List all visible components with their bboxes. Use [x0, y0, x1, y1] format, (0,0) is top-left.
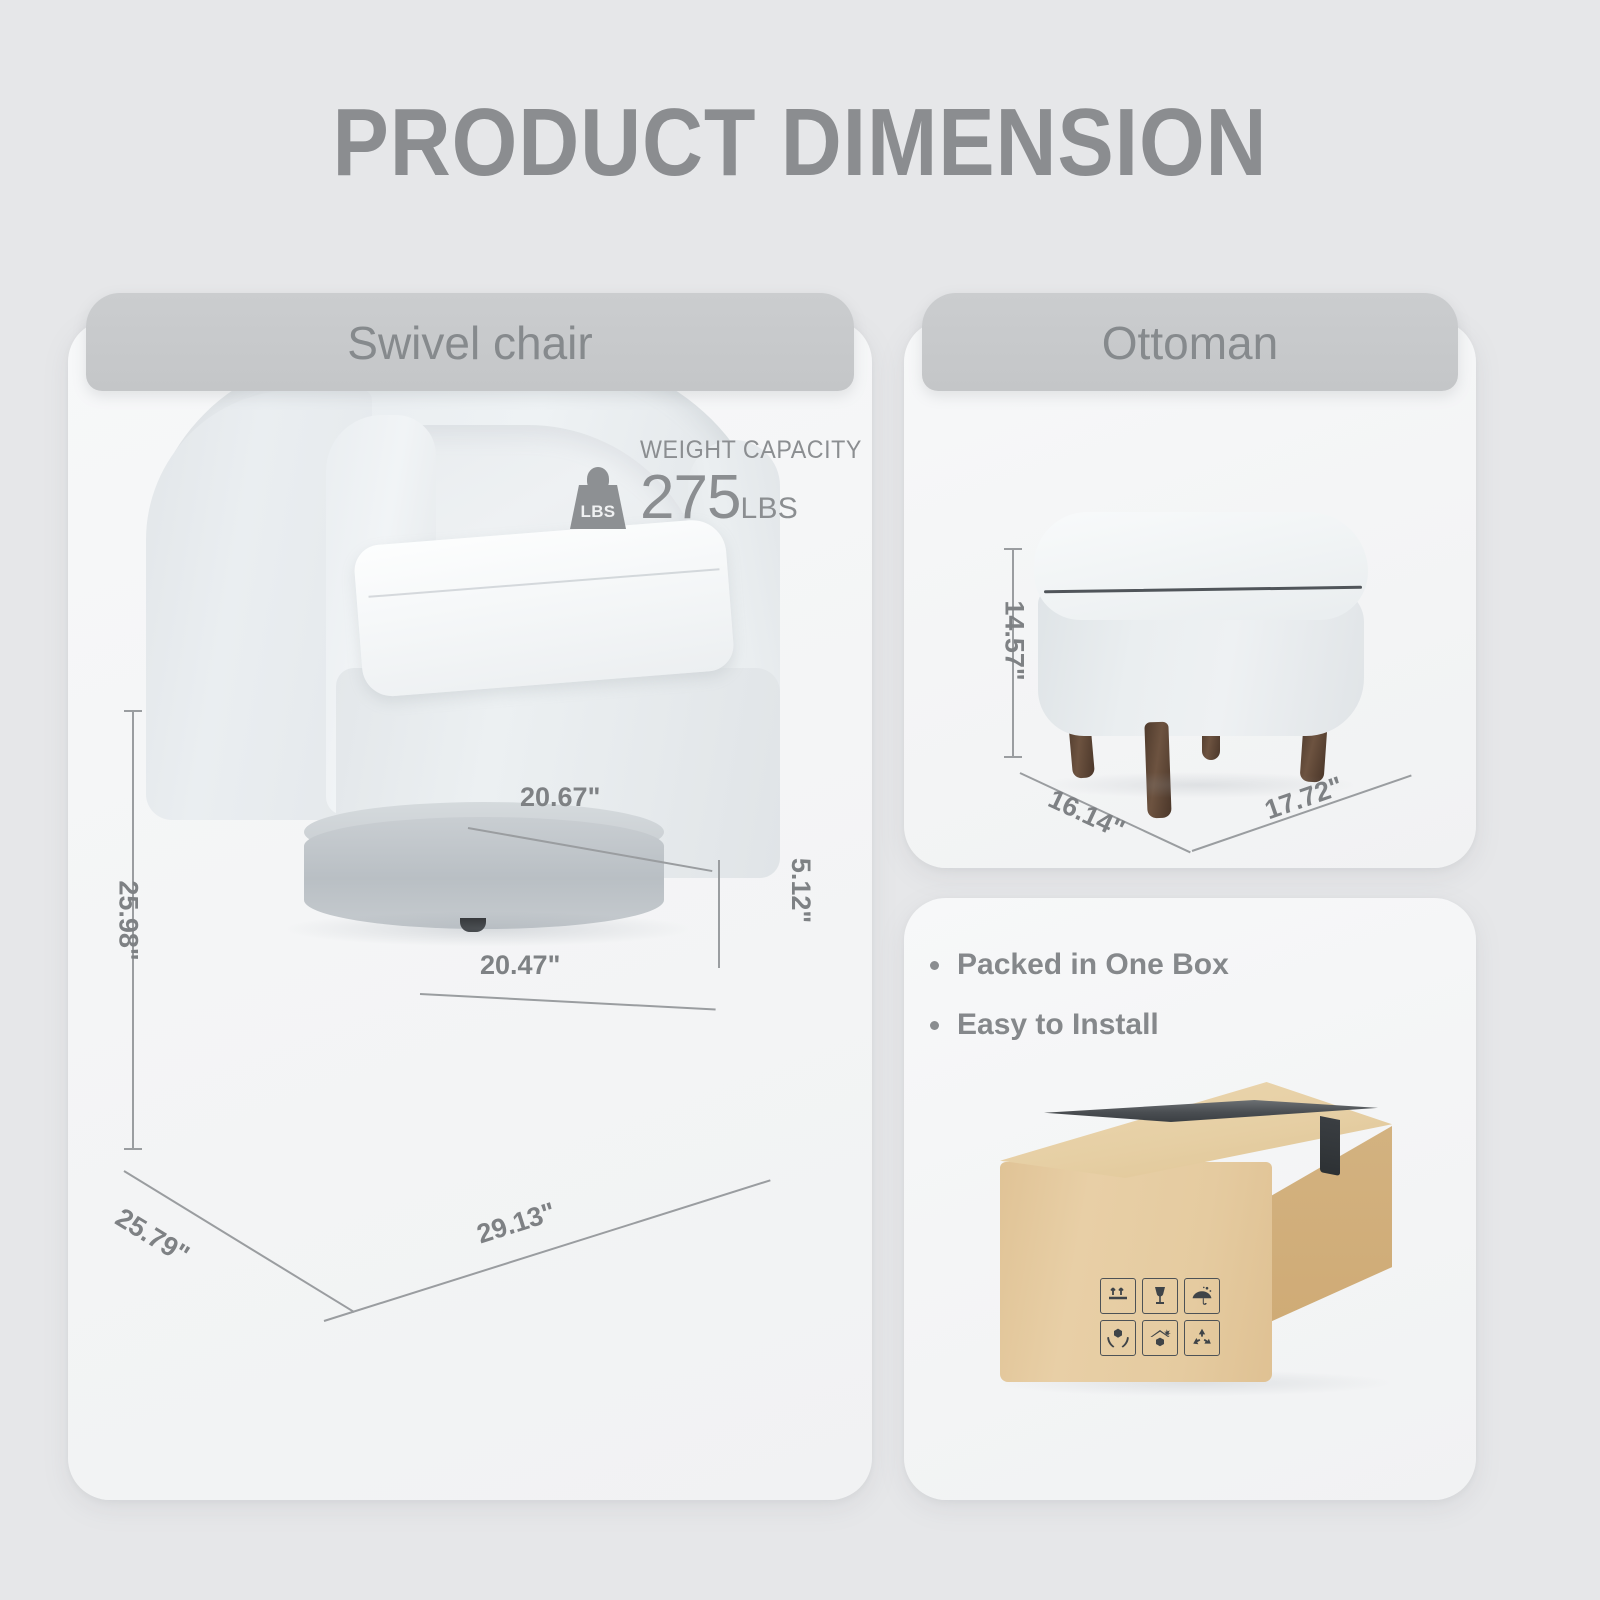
weight-capacity-badge: LBS WEIGHT CAPACITY 275 LBS: [570, 438, 879, 529]
weight-icon: LBS: [570, 467, 626, 529]
list-item: Packed in One Box: [930, 948, 1229, 982]
chair-ground-shadow: [288, 912, 688, 946]
ottoman-height-tick-bottom: [1004, 756, 1022, 758]
chair-height-tick-bottom: [124, 1148, 142, 1150]
bullet-dot-icon: [930, 961, 939, 970]
chair-seat-width-label: 20.47": [480, 950, 560, 981]
box-tape-wrap: [1320, 1116, 1340, 1176]
chair-cushion-label: 5.12": [785, 858, 816, 923]
weight-capacity-text: WEIGHT CAPACITY 275 LBS: [640, 438, 879, 529]
ottoman-illustration: 14.57" 16.14" 17.72": [904, 320, 1476, 868]
chair-height-label: 25.98": [113, 880, 144, 960]
list-item: Easy to Install: [930, 1008, 1229, 1042]
chair-cushion-dimension-line: [718, 860, 720, 968]
chair-height-tick-top: [124, 710, 142, 712]
packing-bullet-label: Packed in One Box: [957, 948, 1229, 982]
fragile-glass-icon: [1142, 1278, 1178, 1314]
swivel-chair-tab: Swivel chair: [86, 293, 854, 391]
chair-inner-back-label: 20.67": [520, 782, 600, 813]
weight-capacity-value-row: 275 LBS: [640, 467, 879, 529]
weight-capacity-caption: WEIGHT CAPACITY: [640, 438, 862, 463]
chair-seat-width-dimension-line: [420, 993, 716, 1010]
shipping-box-illustration: [904, 1040, 1476, 1460]
ottoman-tab-label: Ottoman: [922, 316, 1458, 370]
keep-away-from-heat-icon: [1142, 1320, 1178, 1356]
chair-width-label: 29.13": [473, 1197, 559, 1251]
packing-bullet-label: Easy to Install: [957, 1008, 1159, 1042]
shipping-handling-icons: [1100, 1278, 1220, 1356]
swivel-chair-tab-label: Swivel chair: [86, 316, 854, 370]
chair-seat-cushion: [353, 518, 736, 699]
weight-capacity-value: 275: [640, 467, 740, 529]
weight-capacity-unit: LBS: [740, 494, 798, 524]
page-title: PRODUCT DIMENSION: [96, 88, 1504, 198]
this-side-up-icon: [1100, 1278, 1136, 1314]
bullet-dot-icon: [930, 1021, 939, 1030]
ottoman-tab: Ottoman: [922, 293, 1458, 391]
ottoman-height-tick-top: [1004, 548, 1022, 550]
handle-with-care-icon: [1100, 1320, 1136, 1356]
keep-dry-umbrella-icon: [1184, 1278, 1220, 1314]
ottoman-height-label: 14.57": [999, 600, 1030, 680]
weight-icon-label: LBS: [570, 502, 626, 522]
chair-depth-label: 25.79": [110, 1202, 195, 1270]
ottoman-top-cushion: [1034, 512, 1368, 620]
recycle-icon: [1184, 1320, 1220, 1356]
ottoman-leg: [1144, 722, 1171, 819]
